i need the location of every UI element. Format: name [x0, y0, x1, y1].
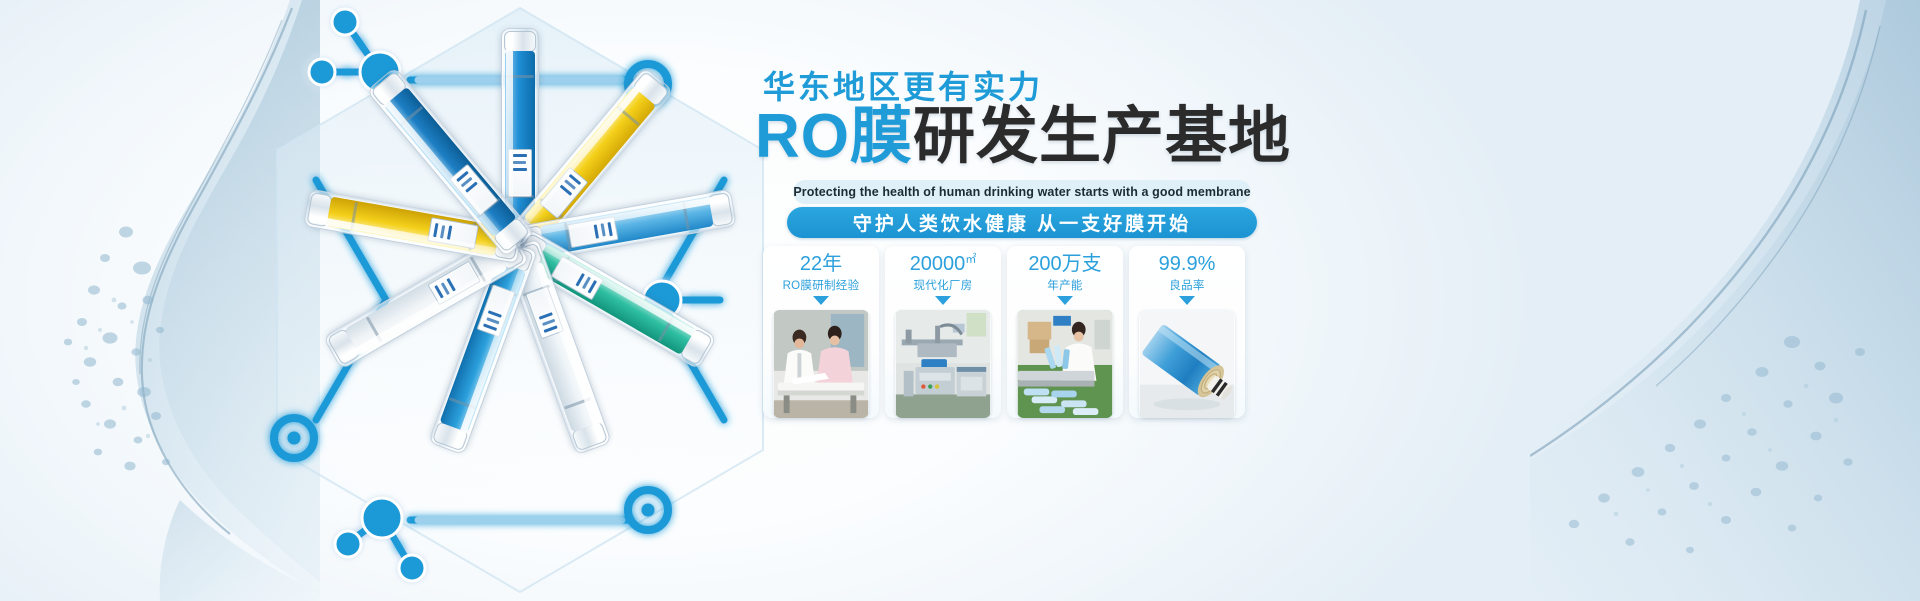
ro-membrane-element-photo	[1139, 310, 1235, 418]
subtitle-chinese: 守护人类饮水健康 从一支好膜开始	[787, 207, 1257, 238]
page-title: RO膜研发生产基地	[755, 105, 1291, 168]
stat-number-unit: ㎡	[965, 253, 976, 265]
stat-card[interactable]: 22年 RO膜研制经验	[763, 246, 879, 418]
stat-card[interactable]: 99.9% 良品率	[1129, 246, 1245, 418]
stat-caption: 年产能	[1047, 277, 1082, 293]
stat-caption: 良品率	[1169, 277, 1204, 293]
stat-card-list: 22年 RO膜研制经验	[763, 246, 1245, 418]
subtitle-english: Protecting the health of human drinking …	[793, 180, 1251, 204]
stat-caption: 现代化厂房	[914, 277, 973, 293]
stat-caption: RO膜研制经验	[783, 277, 860, 293]
production-machinery-photo	[895, 310, 991, 418]
triangle-down-icon	[935, 296, 951, 305]
triangle-down-icon	[813, 296, 829, 305]
promo-banner: 华东地区更有实力 RO膜研发生产基地 Protecting the health…	[0, 0, 1920, 601]
stat-number: 22年	[800, 253, 842, 276]
triangle-down-icon	[1057, 296, 1073, 305]
stat-number-value: 20000	[910, 253, 966, 275]
stat-number: 20000㎡	[910, 253, 977, 276]
water-splash-right	[1530, 0, 1920, 601]
stat-card[interactable]: 20000㎡ 现代化厂房	[885, 246, 1001, 418]
ro-membrane-filter-fan	[300, 10, 740, 480]
packing-line-photo	[1017, 310, 1113, 418]
banner-content: 华东地区更有实力 RO膜研发生产基地 Protecting the health…	[745, 0, 1505, 601]
stat-number: 200万支	[1028, 253, 1101, 276]
stat-card[interactable]: 200万支 年产能	[1007, 246, 1123, 418]
headline-dark-part: 研发生产基地	[913, 102, 1291, 171]
stat-number: 99.9%	[1159, 253, 1216, 276]
cleanroom-inspection-photo	[773, 310, 869, 418]
headline-blue-part: RO膜	[755, 102, 913, 171]
triangle-down-icon	[1179, 296, 1195, 305]
